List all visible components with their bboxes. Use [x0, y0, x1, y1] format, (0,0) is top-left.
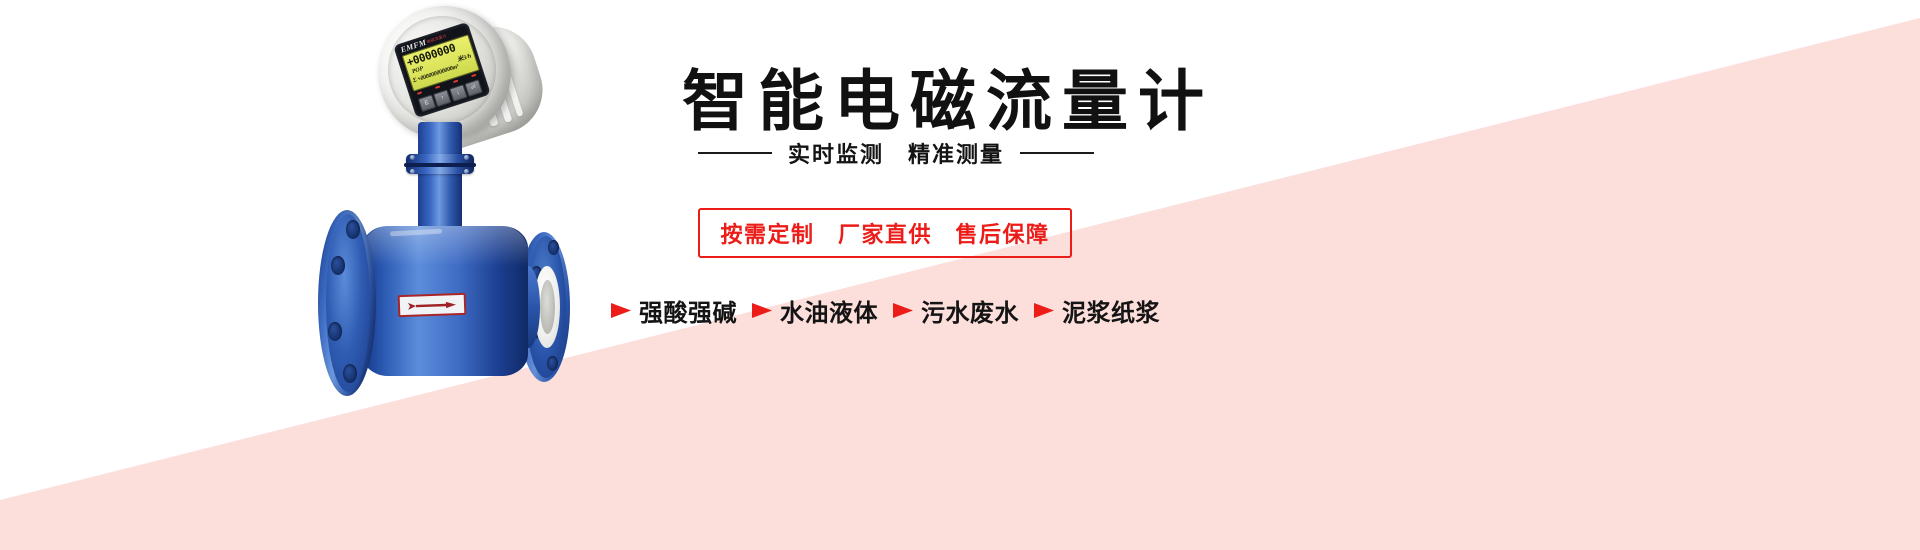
feature-label: 水油液体: [780, 293, 878, 328]
banner-subtitle: 实时监测 精准测量: [788, 137, 1004, 169]
banner-text-block: 智能电磁流量计 实时监测 精准测量 按需定制 厂家直供 售后保障 强酸强碱 水油…: [660, 0, 1860, 550]
status-led: [471, 74, 476, 77]
feature-label: 强酸强碱: [639, 293, 737, 328]
flange-bolt-hole: [331, 256, 345, 275]
flange-bolt-hole: [547, 356, 558, 371]
subtitle-rule-left: [698, 152, 772, 154]
converter-neck: [418, 122, 462, 232]
flange-bolt-hole: [548, 240, 559, 255]
flange-bolt: [410, 155, 415, 160]
flow-direction-label: [398, 293, 467, 317]
promo-callout-text: 按需定制 厂家直供 售后保障: [720, 217, 1049, 249]
triangle-right-icon: [1033, 302, 1055, 319]
body-highlight: [362, 226, 528, 266]
flange-bolt-hole: [346, 220, 360, 239]
flange-bolt: [410, 169, 415, 174]
feature-item: 强酸强碱: [610, 293, 737, 328]
keypad-button: ⏎: [464, 79, 483, 97]
feature-item: 泥浆纸浆: [1033, 293, 1160, 328]
promo-callout-box: 按需定制 厂家直供 售后保障: [698, 208, 1072, 258]
banner-subtitle-row: 实时监测 精准测量: [698, 138, 1118, 168]
lcd-unit-right: 米3/h: [456, 51, 472, 64]
feature-item: 水油液体: [751, 293, 878, 328]
triangle-right-icon: [610, 302, 632, 319]
status-led: [417, 91, 422, 94]
neck-gasket: [404, 163, 476, 167]
product-illustration-flowmeter: EMFM 电磁流量计 +0000000 POP 米3/h Σ +00000000…: [300, 4, 660, 434]
feature-item: 污水废水: [892, 293, 1019, 328]
feature-label: 污水废水: [921, 293, 1019, 328]
liner-bore: [540, 280, 555, 334]
flange-bolt-hole: [328, 322, 342, 341]
feature-label: 泥浆纸浆: [1062, 293, 1160, 328]
banner-title: 智能电磁流量计: [682, 48, 1214, 144]
flange-bolt: [464, 169, 469, 174]
status-led: [453, 80, 458, 83]
keypad-button: ↑: [433, 89, 452, 107]
triangle-right-icon: [751, 302, 773, 319]
flange-bolt: [464, 155, 469, 160]
status-led: [435, 85, 440, 88]
promotional-banner: EMFM 电磁流量计 +0000000 POP 米3/h Σ +00000000…: [0, 0, 1920, 550]
flange-bolt-hole: [343, 364, 357, 383]
subtitle-rule-right: [1020, 152, 1094, 154]
triangle-right-icon: [892, 302, 914, 319]
feature-list: 强酸强碱 水油液体 污水废水 泥浆纸浆: [610, 290, 1230, 330]
flow-direction-arrow-icon: [406, 300, 458, 311]
